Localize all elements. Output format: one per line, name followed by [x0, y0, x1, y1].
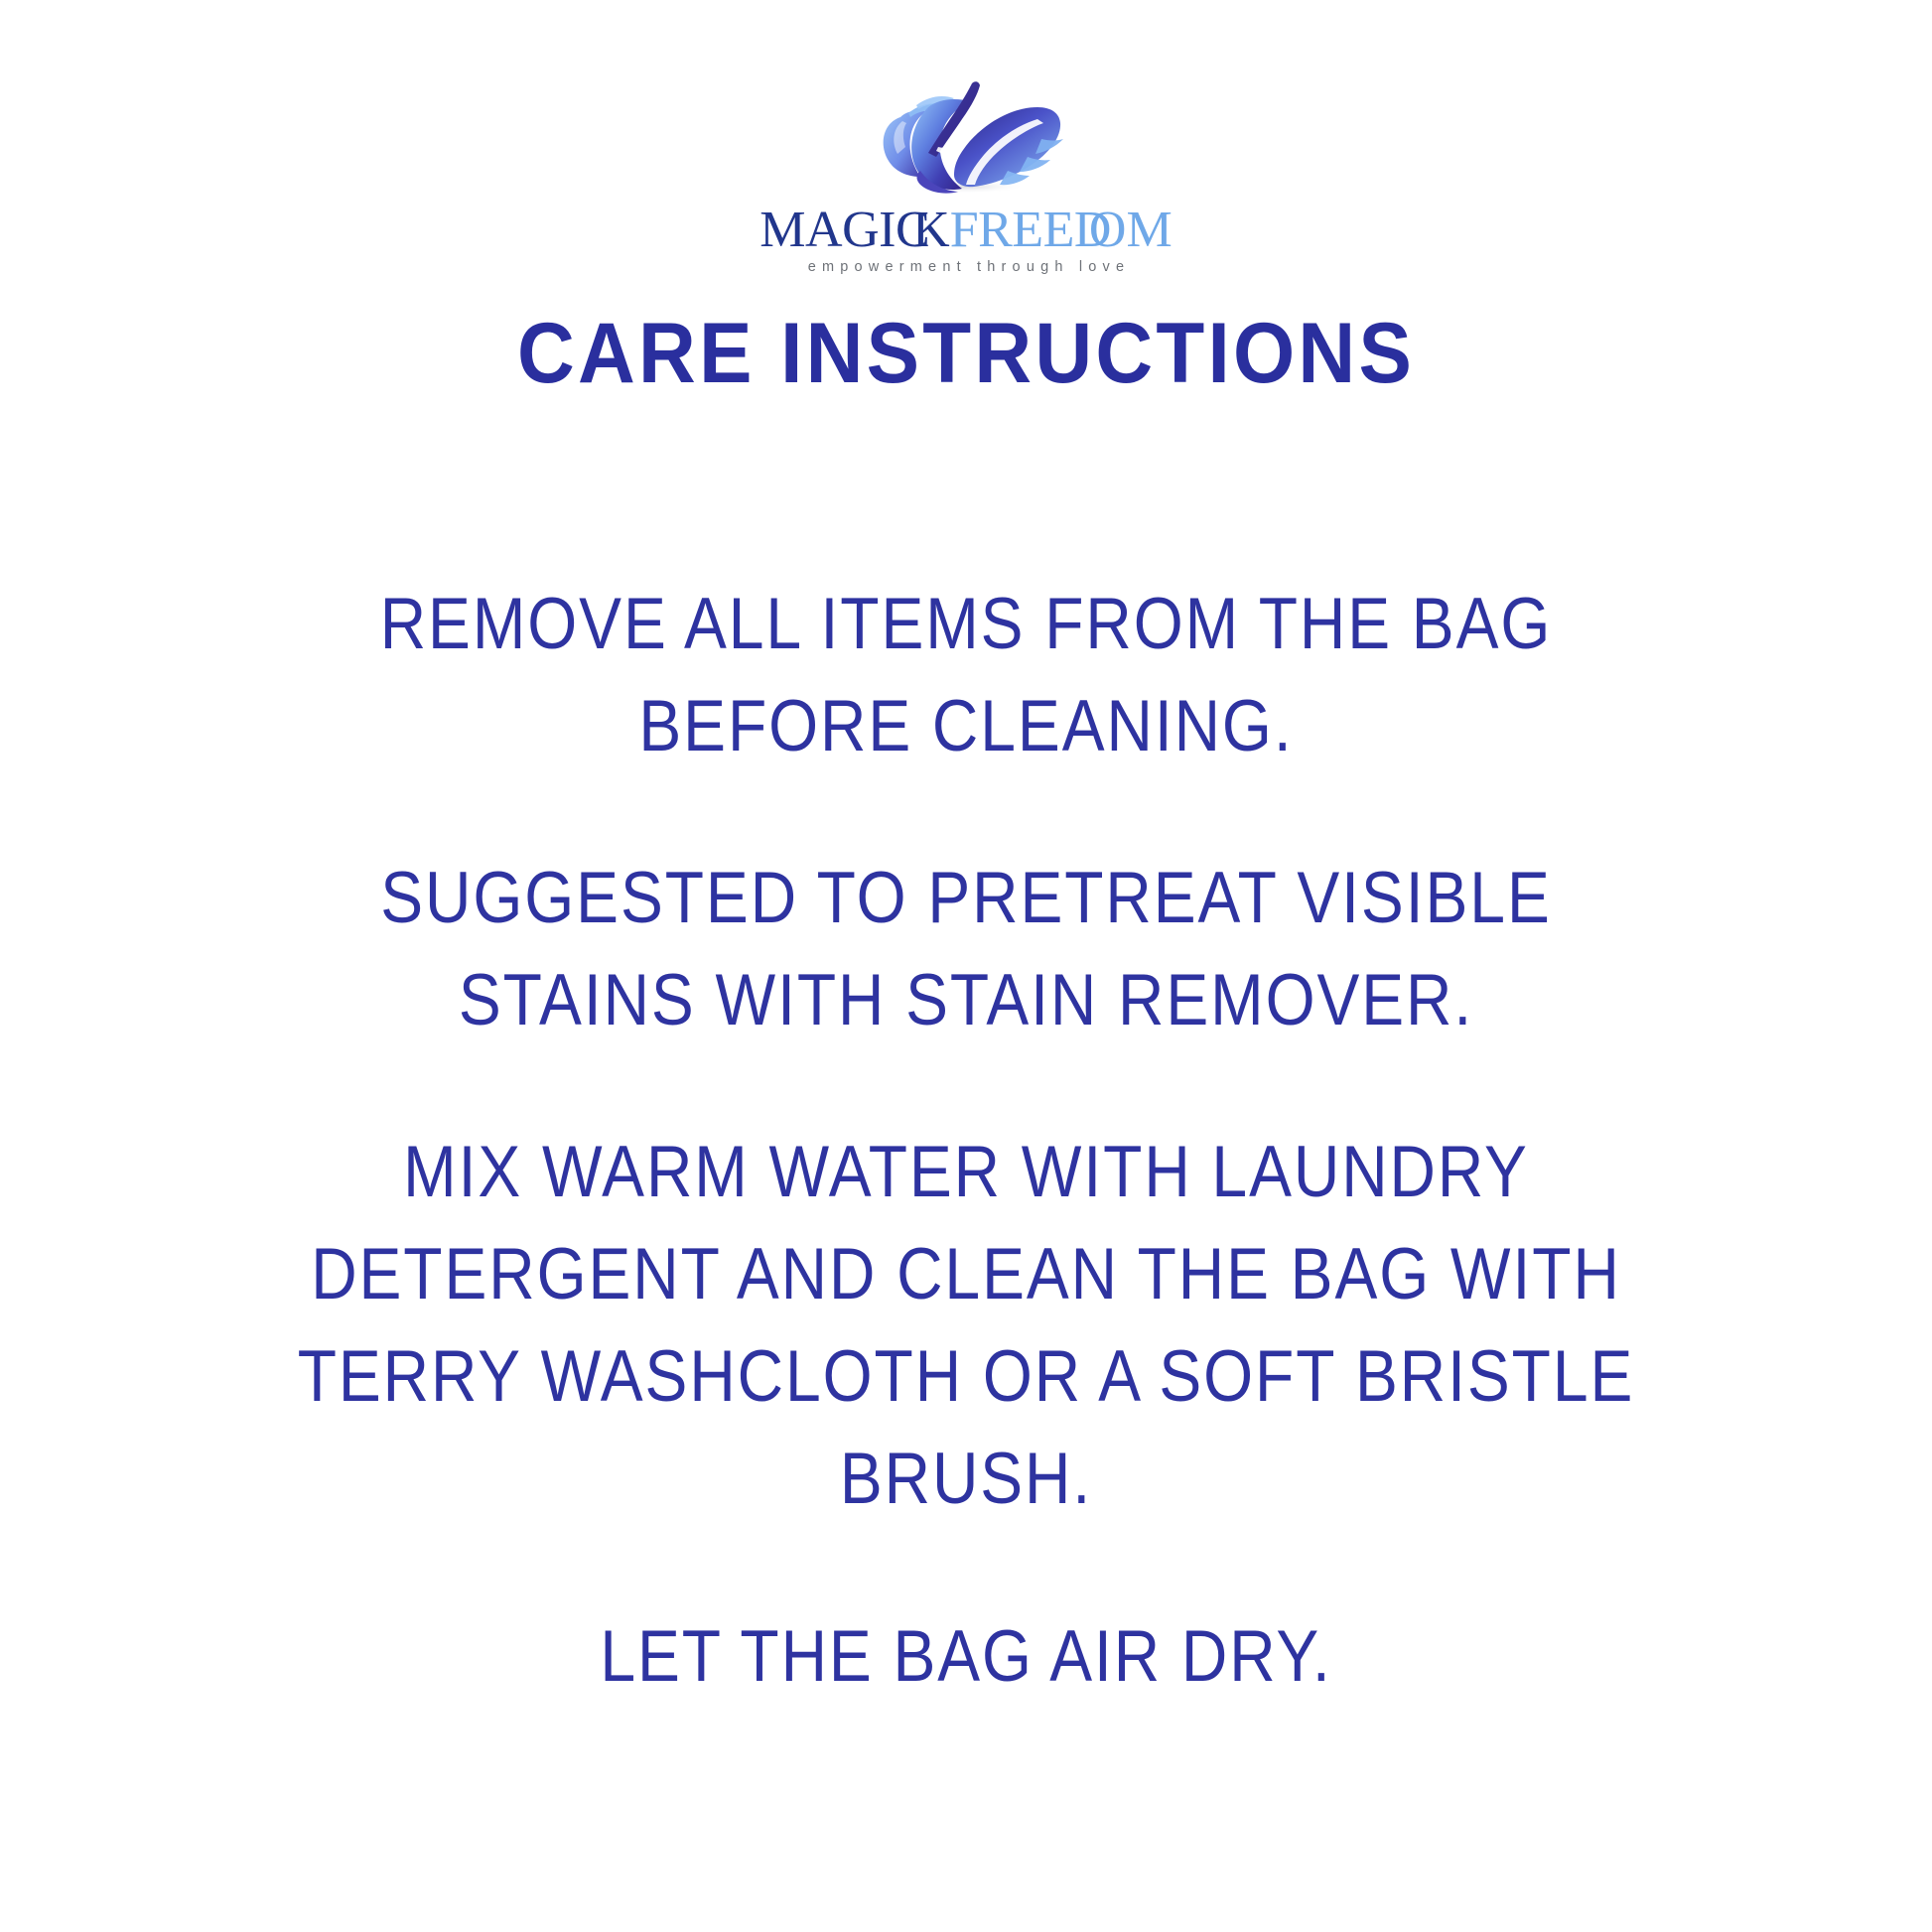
brand-name-magick-k: K [912, 205, 950, 256]
instruction-air-dry: LET THE BAG AIR DRY. [285, 1605, 1648, 1708]
brand-lockup: MAGICKFREEDOM empowerment through love [688, 62, 1244, 275]
brand-name-freedom: FREED [950, 205, 1111, 256]
instruction-pretreat-stains: SUGGESTED TO PRETREAT VISIBLE STAINS WIT… [285, 847, 1648, 1051]
brand-name-freedom-om: OM [1089, 205, 1173, 256]
brand-wordmark: MAGICKFREEDOM [759, 205, 1172, 256]
brand-name-magick: MAGIC [759, 205, 929, 256]
care-instructions-card: MAGICKFREEDOM empowerment through love C… [0, 0, 1932, 1932]
instruction-remove-items: REMOVE ALL ITEMS FROM THE BAG BEFORE CLE… [285, 573, 1648, 777]
instructions-list: REMOVE ALL ITEMS FROM THE BAG BEFORE CLE… [192, 573, 1740, 1708]
page-title: CARE INSTRUCTIONS [517, 309, 1415, 398]
brand-tagline: empowerment through love [802, 259, 1131, 275]
instruction-wash-bag: MIX WARM WATER WITH LAUNDRY DETERGENT AN… [285, 1121, 1648, 1530]
feather-icon [843, 62, 1089, 201]
